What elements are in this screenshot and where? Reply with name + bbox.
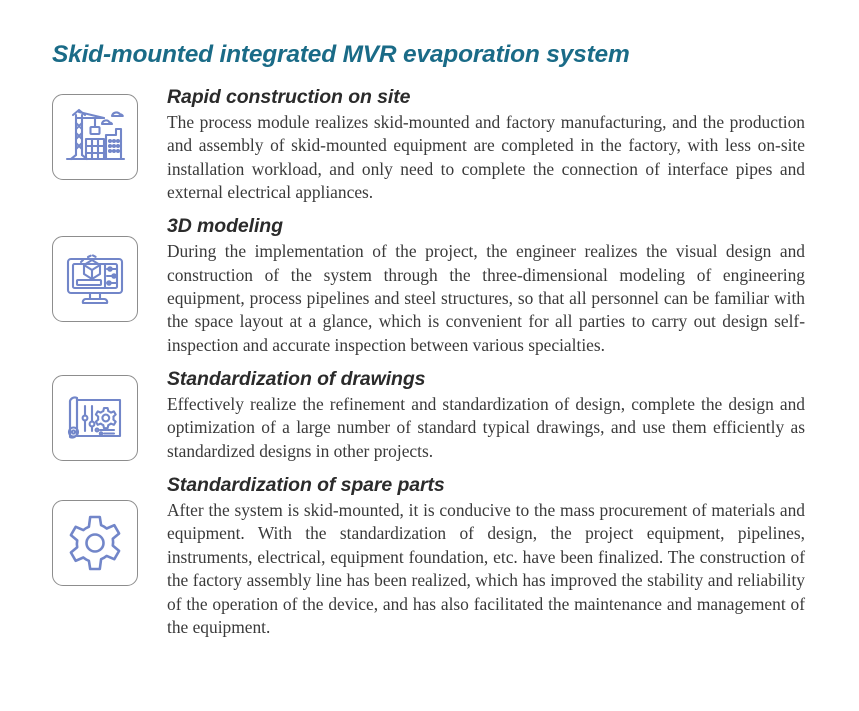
feature-text-block: 3D modeling During the implementation of…	[167, 215, 805, 357]
feature-section: Standardization of drawings Effectively …	[0, 368, 859, 463]
feature-section: Standardization of spare parts After the…	[0, 474, 859, 639]
feature-text-block: Standardization of spare parts After the…	[167, 474, 805, 639]
feature-heading: 3D modeling	[167, 215, 805, 239]
page-title: Skid-mounted integrated MVR evaporation …	[52, 41, 630, 69]
feature-description: After the system is skid-mounted, it is …	[167, 499, 805, 639]
feature-heading: Standardization of spare parts	[167, 474, 805, 498]
feature-heading: Rapid construction on site	[167, 86, 805, 110]
feature-section-list: Rapid construction on site The process m…	[0, 86, 859, 639]
feature-section: 3D modeling During the implementation of…	[0, 215, 859, 357]
feature-heading: Standardization of drawings	[167, 368, 805, 392]
feature-text-block: Standardization of drawings Effectively …	[167, 368, 805, 463]
feature-text-block: Rapid construction on site The process m…	[167, 86, 805, 204]
feature-description: During the implementation of the project…	[167, 240, 805, 357]
construction-crane-icon	[52, 94, 138, 180]
3d-modeling-monitor-icon	[52, 236, 138, 322]
feature-list-page: Skid-mounted integrated MVR evaporation …	[0, 0, 859, 711]
blueprint-gear-icon	[52, 375, 138, 461]
feature-description: The process module realizes skid-mounted…	[167, 111, 805, 205]
gear-icon	[52, 500, 138, 586]
feature-description: Effectively realize the refinement and s…	[167, 393, 805, 463]
feature-section: Rapid construction on site The process m…	[0, 86, 859, 204]
